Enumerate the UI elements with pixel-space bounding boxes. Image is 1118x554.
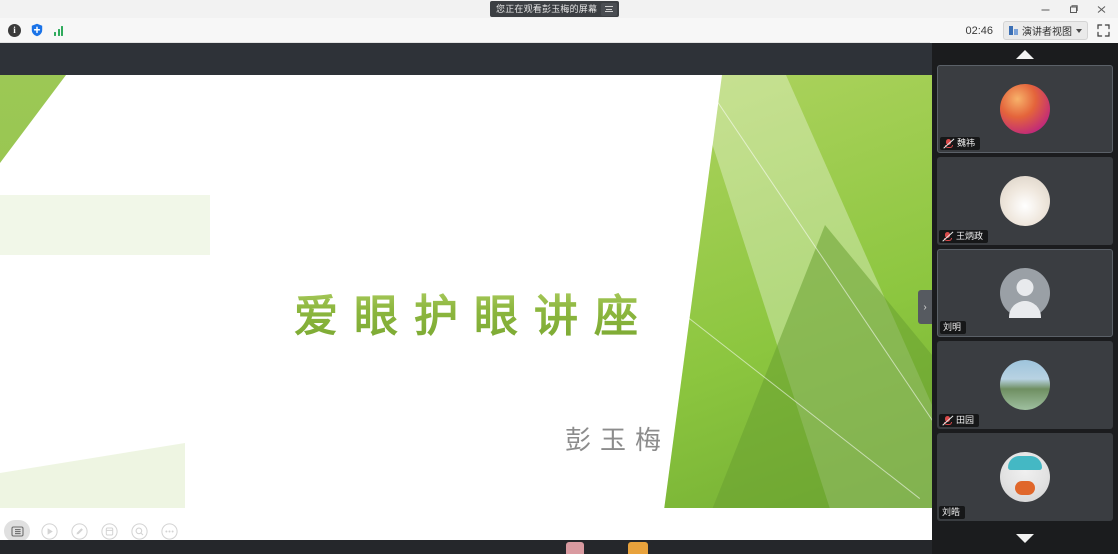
play-icon[interactable] — [38, 520, 60, 542]
avatar — [1000, 84, 1050, 134]
minimize-button[interactable] — [1032, 0, 1058, 18]
chevron-up-icon — [1016, 50, 1034, 59]
bottom-icon-1[interactable] — [566, 542, 584, 554]
window-controls — [1032, 0, 1114, 18]
decor-shape-left-band — [0, 195, 210, 255]
mic-muted-icon — [942, 231, 953, 242]
presentation-slide: 爱眼护眼讲座 彭玉梅 WPS 演示模板库 更多精彩模板尽在 WPS 稻壳儿 — [0, 75, 932, 540]
view-mode-selector[interactable]: 演讲者视图 — [1003, 21, 1088, 40]
layout-icon — [1009, 26, 1018, 35]
bottom-icon-2[interactable] — [628, 542, 648, 554]
scroll-down-button[interactable] — [932, 528, 1118, 548]
avatar — [1000, 360, 1050, 410]
participant-tiles: 魏祎 王炳政 刘明 — [937, 65, 1113, 525]
participant-tile[interactable]: 刘皓 — [937, 433, 1113, 521]
participant-name-badge: 刘皓 — [939, 506, 965, 519]
chevron-down-icon — [1016, 534, 1034, 543]
view-mode-label: 演讲者视图 — [1022, 23, 1072, 38]
slide-menu-icon[interactable] — [4, 520, 30, 542]
avatar — [1000, 268, 1050, 318]
chevron-down-icon — [1076, 29, 1082, 33]
maximize-button[interactable] — [1060, 0, 1086, 18]
notification-text: 您正在观看彭玉梅的屏幕 — [496, 1, 597, 17]
participant-name: 田园 — [956, 415, 974, 426]
meeting-top-controls: 02:46 演讲者视图 — [930, 18, 1118, 43]
meeting-timer: 02:46 — [955, 25, 1003, 37]
scroll-up-button[interactable] — [932, 44, 1118, 64]
window-title-bar: 您正在观看彭玉梅的屏幕 — [0, 0, 1118, 18]
signal-bars-icon[interactable] — [51, 23, 66, 38]
notification-menu-icon[interactable] — [601, 3, 617, 16]
fullscreen-button[interactable] — [1092, 20, 1114, 42]
participant-name-badge: 田园 — [939, 414, 979, 427]
participant-name-badge: 刘明 — [940, 321, 966, 334]
mic-muted-icon — [942, 415, 953, 426]
zoom-meeting-window: 您正在观看彭玉梅的屏幕 i — [0, 0, 1118, 554]
notes-icon[interactable] — [98, 520, 120, 542]
participant-name: 王炳政 — [956, 231, 983, 242]
participants-panel: 魏祎 王炳政 刘明 — [932, 43, 1118, 554]
participant-tile[interactable]: 魏祎 — [937, 65, 1113, 153]
screen-share-notification: 您正在观看彭玉梅的屏幕 — [490, 1, 619, 17]
avatar — [1000, 452, 1050, 502]
participant-tile[interactable]: 田园 — [937, 341, 1113, 429]
close-button[interactable] — [1088, 0, 1114, 18]
participant-name-badge: 王炳政 — [939, 230, 988, 243]
avatar — [1000, 176, 1050, 226]
zoom-icon[interactable] — [128, 520, 150, 542]
slide-title: 爱眼护眼讲座 — [0, 280, 932, 344]
status-icons: i — [0, 23, 66, 38]
mic-muted-icon — [943, 138, 954, 149]
participant-tile[interactable]: 王炳政 — [937, 157, 1113, 245]
shared-screen-stage: 爱眼护眼讲座 彭玉梅 WPS 演示模板库 更多精彩模板尽在 WPS 稻壳儿 — [0, 43, 932, 554]
shield-icon[interactable] — [29, 23, 44, 38]
pen-icon[interactable] — [68, 520, 90, 542]
participant-name: 刘皓 — [942, 507, 960, 518]
participant-name: 魏祎 — [957, 138, 975, 149]
more-options-icon[interactable] — [158, 520, 180, 542]
participant-name-badge: 魏祎 — [940, 137, 980, 150]
participant-name: 刘明 — [943, 322, 961, 333]
meeting-bottom-bar-sliver — [0, 540, 932, 554]
participant-tile[interactable]: 刘明 — [937, 249, 1113, 337]
info-icon[interactable]: i — [7, 23, 22, 38]
slide-author: 彭玉梅 — [0, 420, 932, 457]
panel-collapse-handle[interactable]: › — [918, 290, 932, 324]
